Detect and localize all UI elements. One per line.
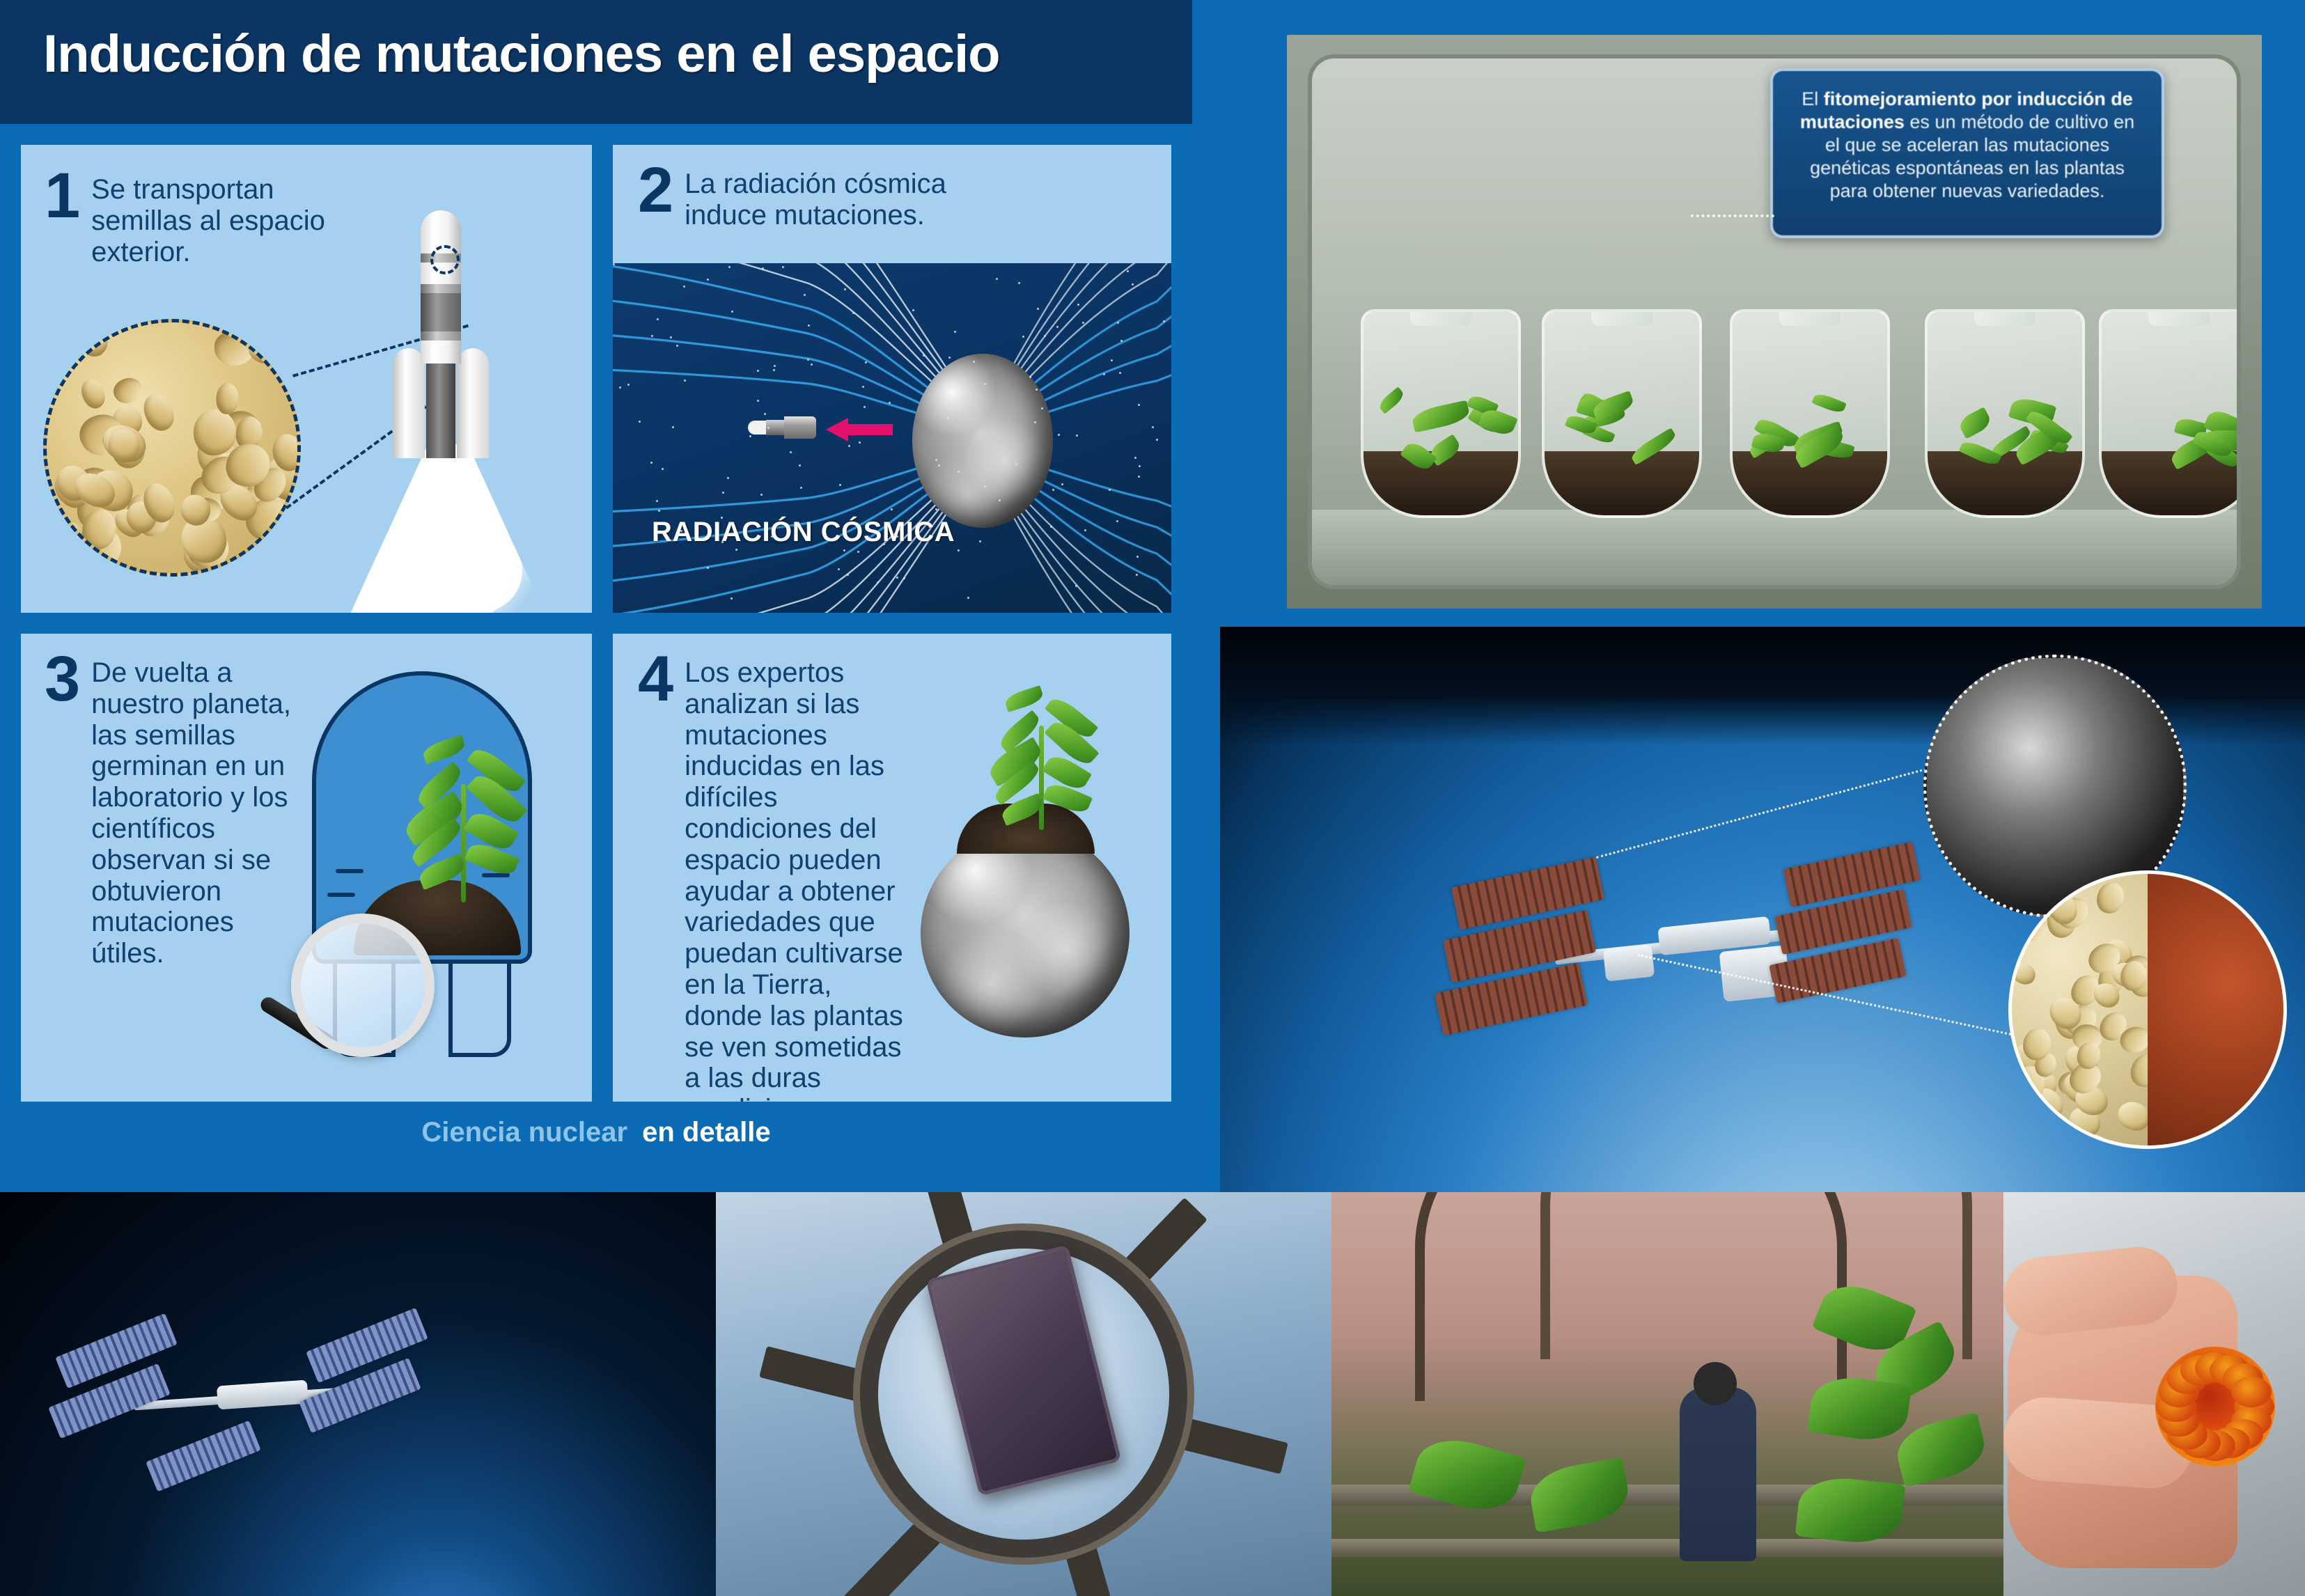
iss2-panel-5 <box>146 1421 261 1492</box>
star <box>912 309 914 311</box>
terrarium-illustration <box>279 671 571 1096</box>
iss2-module <box>217 1380 308 1410</box>
culture-flask <box>1730 309 1890 518</box>
plant-stem <box>461 784 466 902</box>
star <box>767 427 769 429</box>
rocket-mid-section <box>421 290 461 336</box>
smoke-puff <box>396 503 429 536</box>
star <box>848 445 850 447</box>
zoom-circle-seeds-soil <box>2008 870 2287 1149</box>
star <box>1037 308 1039 310</box>
culture-flask <box>1542 309 1702 518</box>
culture-flask <box>2099 309 2241 518</box>
earth-globe-grayscale <box>912 354 1053 528</box>
payload-marker-icon <box>430 245 460 274</box>
star <box>811 363 813 366</box>
caption-leader-dots <box>1691 214 1774 217</box>
photo-greenhouse <box>1331 1192 2003 1596</box>
flask-neck <box>1591 309 1652 326</box>
infographic-panel: Inducción de mutaciones en el espacio 1 … <box>0 0 1192 1192</box>
step-2-text: La radiación cósmica induce mutaciones. <box>685 164 1028 231</box>
culture-flask <box>1361 309 1521 518</box>
star <box>1116 520 1118 522</box>
flask-neck <box>1779 309 1841 326</box>
star <box>1056 326 1058 328</box>
greenhouse-worker <box>1680 1387 1756 1561</box>
smoke-puff <box>435 475 487 528</box>
flask-neck <box>1410 309 1471 326</box>
photo-iss-in-space <box>0 1192 716 1596</box>
leaf <box>1003 685 1045 712</box>
star <box>735 549 737 551</box>
greenhouse-bench-2 <box>1331 1539 2003 1557</box>
worker-head <box>1694 1362 1737 1405</box>
seed <box>2094 879 2126 915</box>
step-2-number: 2 <box>638 164 673 217</box>
zoom-seeds-half <box>2012 874 2148 1145</box>
star <box>891 508 893 510</box>
marigold-flower <box>2155 1347 2275 1466</box>
star <box>1163 320 1165 322</box>
rocket-exhaust-plume <box>348 444 547 613</box>
star <box>684 380 686 382</box>
star <box>800 487 802 489</box>
spacecraft-icon <box>748 414 816 441</box>
seedling-plant <box>403 735 528 895</box>
flower-petal <box>2231 1377 2272 1407</box>
seed <box>109 373 146 408</box>
star <box>651 335 653 337</box>
star <box>782 266 784 268</box>
flask-plantlet <box>1411 400 1471 432</box>
step-3-text: De vuelta a nuestro planeta, las semilla… <box>91 653 309 969</box>
star <box>613 263 615 265</box>
star <box>799 464 801 467</box>
greenhouse-plant-5 <box>1408 1430 1526 1520</box>
star <box>1082 322 1084 324</box>
step-4-text: Los expertos analizan si las mutaciones … <box>685 653 916 1102</box>
star <box>1077 304 1079 306</box>
star <box>935 459 937 461</box>
star <box>967 597 969 599</box>
step-4-number: 4 <box>638 653 673 705</box>
star <box>954 331 956 333</box>
footer-branding: Ciencia nuclear en detalle <box>0 1117 1192 1148</box>
star <box>1022 336 1024 338</box>
title-bar: Inducción de mutaciones en el espacio <box>0 0 1192 124</box>
globe-sprout-illustration <box>890 677 1155 1095</box>
flask-plantlet <box>1377 386 1406 414</box>
seed <box>244 331 281 366</box>
star <box>1117 322 1119 324</box>
star <box>728 266 730 268</box>
star <box>935 508 937 510</box>
star <box>1075 585 1077 587</box>
star <box>903 577 905 579</box>
star <box>1119 372 1121 374</box>
spacecraft-nose <box>748 421 766 435</box>
radiation-arrow-icon <box>826 418 893 441</box>
sprout-plant <box>979 691 1104 830</box>
step-3-number: 3 <box>45 653 80 705</box>
rocket-illustration <box>320 187 585 613</box>
iss-station-render-2 <box>43 1297 433 1505</box>
star <box>852 312 854 314</box>
flask-plantlet <box>1812 391 1847 415</box>
iss-module-c <box>1603 944 1655 981</box>
step-1-text: Se transportan semillas al espacio exter… <box>91 170 337 267</box>
greenhouse-plant-6 <box>1526 1457 1633 1533</box>
star <box>1058 434 1060 436</box>
footer-light-text: Ciencia nuclear <box>421 1117 627 1148</box>
star <box>658 510 660 512</box>
star <box>1138 476 1140 478</box>
star <box>979 540 981 542</box>
step-card-1: 1 Se transportan semillas al espacio ext… <box>21 145 592 613</box>
rocket-booster-left <box>393 348 425 458</box>
star <box>672 426 674 428</box>
smoke-puff <box>360 535 408 583</box>
seed <box>2012 874 2036 894</box>
step-3-header: 3 De vuelta a nuestro planeta, las semil… <box>45 653 309 969</box>
zoom-soil-half <box>2148 874 2283 1145</box>
step-card-2: 2 La radiación cósmica induce mutaciones… <box>613 145 1171 613</box>
step-1-number: 1 <box>45 170 80 222</box>
star <box>958 471 960 473</box>
spacecraft-body-2 <box>784 416 816 439</box>
magnetosphere-diagram: RADIACIÓN CÓSMICA <box>613 263 1171 613</box>
star <box>804 294 806 296</box>
star <box>721 517 723 519</box>
infographic-page: Inducción de mutaciones en el espacio 1 … <box>0 0 2305 1596</box>
dome-mark-1 <box>336 869 364 873</box>
star <box>727 477 729 479</box>
leaf <box>421 735 467 765</box>
tray-base-band <box>1312 510 2237 585</box>
star <box>1156 439 1158 441</box>
step-1-header: 1 Se transportan semillas al espacio ext… <box>45 170 337 267</box>
sprout-stem <box>1039 726 1044 830</box>
dome-mark-2 <box>327 893 355 897</box>
step-4-header: 4 Los expertos analizan si las mutacione… <box>638 653 916 1102</box>
step-card-3: 3 De vuelta a nuestro planeta, las semil… <box>21 634 592 1102</box>
step-2-header: 2 La radiación cósmica induce mutaciones… <box>638 164 1028 231</box>
star <box>680 530 682 532</box>
caption-lead: El <box>1802 88 1824 109</box>
flask-neck <box>2148 309 2210 326</box>
radiation-label: RADIACIÓN CÓSMICA <box>652 517 955 548</box>
seed <box>137 389 180 435</box>
flask-plantlet <box>1956 407 1992 439</box>
greenhouse-plant-4 <box>1891 1412 1990 1487</box>
star <box>896 535 898 538</box>
flask-neck <box>1974 309 2036 326</box>
lab-flask-photo: El fitomejoramiento por inducción de mut… <box>1287 35 2262 609</box>
star <box>774 365 776 367</box>
iss-orbit-photo <box>1220 627 2305 1192</box>
star <box>662 468 664 470</box>
seed <box>2009 961 2038 988</box>
rocket-booster-right <box>457 348 489 458</box>
bottom-photo-strip <box>0 1192 2305 1596</box>
star <box>984 485 986 487</box>
rocket-band-2 <box>421 284 461 293</box>
stand-leg-right <box>448 962 511 1057</box>
star <box>859 441 861 444</box>
seeds-photo-circle <box>43 319 301 577</box>
greenhouse-arch-2 <box>1540 1192 1972 1359</box>
photo-cupola-window <box>716 1192 1331 1596</box>
footer-bold-text: en detalle <box>642 1117 771 1148</box>
earth-globe-grayscale-2 <box>921 829 1130 1038</box>
flask-substrate <box>1545 451 1699 515</box>
star <box>790 451 792 453</box>
photo-caption-box: El fitomejoramiento por inducción de mut… <box>1770 68 2164 238</box>
magnifier-icon <box>279 914 439 1074</box>
star <box>1015 463 1017 465</box>
iss-station-render <box>1429 836 1958 1045</box>
rocket-band-3 <box>421 331 461 341</box>
star <box>676 345 678 347</box>
page-title: Inducción de mutaciones en el espacio <box>43 24 1000 84</box>
seed <box>75 323 114 361</box>
culture-flask <box>1925 309 2085 518</box>
cupola-frame <box>759 1199 1288 1589</box>
seed <box>2015 912 2050 944</box>
magnifier-lens <box>291 914 435 1057</box>
photo-hand-holding-marigold <box>2003 1192 2305 1596</box>
star <box>650 462 653 464</box>
star <box>938 464 940 467</box>
seed <box>216 383 240 415</box>
star <box>707 279 709 281</box>
star <box>1050 526 1052 528</box>
star <box>948 357 951 359</box>
flask-substrate <box>1928 451 2082 515</box>
step-card-4: 4 Los expertos analizan si las mutacione… <box>613 634 1171 1102</box>
star <box>721 541 724 543</box>
seed <box>76 375 109 412</box>
star <box>947 417 949 419</box>
star <box>762 267 764 269</box>
